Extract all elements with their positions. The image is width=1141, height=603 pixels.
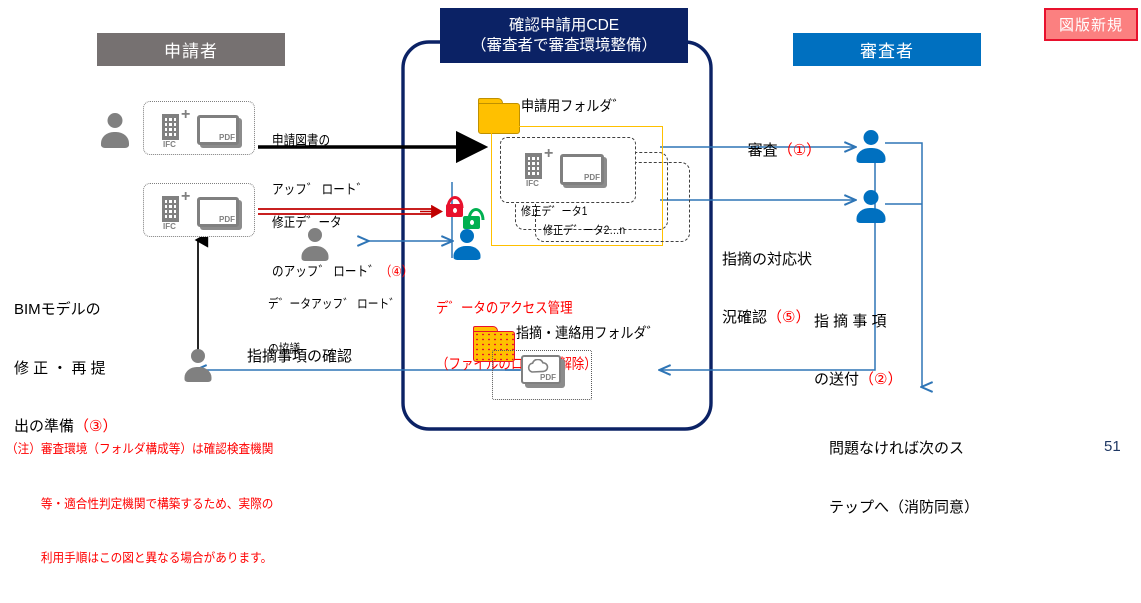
folder-apply-label: 申請用フォルダ゛ xyxy=(521,95,625,116)
label-upload-consult: デ゛ータアッフ゛ ロート゛ の協議 xyxy=(268,266,400,388)
building-icon-1 xyxy=(162,114,179,140)
pdf-icon-2: PDF xyxy=(197,197,239,227)
avatar-applicant-1 xyxy=(100,113,130,148)
asset-ifc-label-1: IFC xyxy=(163,140,176,149)
label-issue-status-5: 指摘の対応状 況確認（⑤） xyxy=(722,212,812,366)
label-next-step: 問題なければ次のス テップへ（消防同意） xyxy=(829,400,979,556)
avatar-reviewer-1 xyxy=(855,130,886,163)
label-confirm-issues: 指摘事項の確認 xyxy=(247,348,352,366)
avatar-applicant-2 xyxy=(300,228,330,261)
step-number-2: （②） xyxy=(859,371,902,388)
lock-closed-icon xyxy=(446,196,463,217)
pdf-cloud-icon: PDF xyxy=(521,355,561,384)
asset-pdf-label-1: PDF xyxy=(219,133,235,142)
page-number: 51 xyxy=(1104,438,1121,455)
asset-ifc-pdf-cde: + IFC PDF xyxy=(505,140,630,198)
cde-title-line1: 確認申請用CDE xyxy=(509,16,619,35)
lock-open-icon xyxy=(463,208,480,229)
plus-icon-1: + xyxy=(181,107,190,123)
footnote: （注）審査環境（フォルダ構成等）は確認検査機関 等・適合性判定機関で構築するため… xyxy=(6,404,273,603)
pdf-icon-cde: PDF xyxy=(560,154,604,185)
building-icon-cde xyxy=(525,153,542,179)
asset-pdf-label-2: PDF xyxy=(219,215,235,224)
asset-pdf-label-cde: PDF xyxy=(584,173,600,182)
plus-icon-cde: + xyxy=(544,146,553,162)
step-number-5: （⑤） xyxy=(767,309,810,326)
avatar-reviewer-2 xyxy=(855,190,886,223)
step-number-1: （①） xyxy=(778,142,821,159)
pdf-icon-1: PDF xyxy=(197,115,239,145)
folder-issue-label: 指摘・連絡用フォルダ゛ xyxy=(516,322,660,343)
lane-header-reviewer: 審査者 xyxy=(793,33,981,66)
lane-applicant-label: 申請者 xyxy=(164,37,218,62)
avatar-applicant-3 xyxy=(183,349,213,382)
cde-title-line2: （審査者で審査環境整備） xyxy=(471,36,657,55)
label-review-1: 審査（①） xyxy=(731,124,821,179)
plus-icon-2: + xyxy=(181,189,190,205)
asset-ifc-pdf-1: + IFC PDF xyxy=(143,101,255,155)
badge-label: 図版新規 xyxy=(1059,14,1123,35)
diagram-canvas: 申請者 審査者 確認申請用CDE （審査者で審査環境整備） 図版新規 + IFC… xyxy=(0,0,1141,468)
asset-ifc-pdf-2: + IFC PDF xyxy=(143,183,255,237)
avatar-cde-manager xyxy=(452,229,482,260)
issue-pdf-label: PDF xyxy=(540,373,556,382)
status-badge-new: 図版新規 xyxy=(1044,8,1138,41)
lane-header-cde: 確認申請用CDE （審査者で審査環境整備） xyxy=(440,8,688,63)
building-icon-2 xyxy=(162,196,179,222)
asset-ifc-label-2: IFC xyxy=(163,222,176,231)
lane-reviewer-label: 審査者 xyxy=(860,37,914,62)
label-revision-2: 修正デ゛ータ2…n xyxy=(543,222,625,238)
asset-ifc-label-cde: IFC xyxy=(526,179,539,188)
label-revision-1: 修正デ゛ータ1 xyxy=(521,203,587,219)
lane-header-applicant: 申請者 xyxy=(97,33,285,66)
